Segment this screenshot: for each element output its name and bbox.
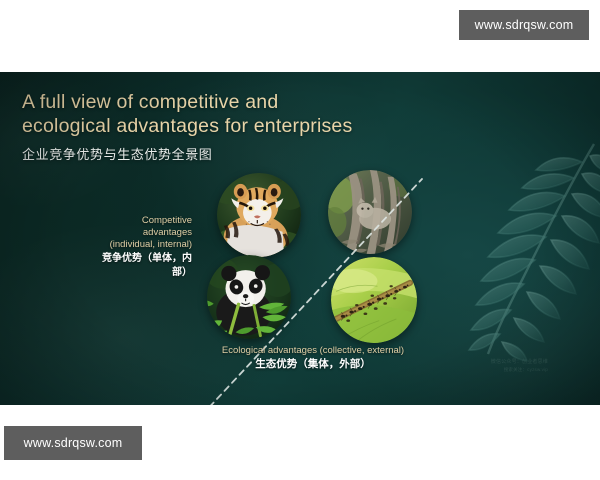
attribution-line-1: 微信公众号：创业者思维 xyxy=(491,359,548,366)
screenshot-canvas: www.sdrqsw.com xyxy=(0,0,600,480)
presentation-slide: A full view of competitive and ecologica… xyxy=(0,72,600,405)
fern-leaf-icon xyxy=(456,136,600,366)
bubble-panda[interactable] xyxy=(207,255,291,339)
slide-subtitle-chinese: 企业竞争优势与生态优势全景图 xyxy=(22,144,352,163)
attribution-line-2: 搜索关注：cyzsw.vip xyxy=(491,366,548,373)
title-line-2: ecological advantages for enterprises xyxy=(22,114,352,138)
y-axis-label-cn: 竞争优势（单体，内部） xyxy=(88,252,192,280)
watermark-top: www.sdrqsw.com xyxy=(459,10,589,40)
bubble-tiger[interactable] xyxy=(217,173,301,257)
slide-attribution: 微信公众号：创业者思维 搜索关注：cyzsw.vip xyxy=(491,359,548,373)
x-axis-label-cn: 生态优势（集体，外部） xyxy=(193,357,433,371)
y-axis-label-en-line3: (individual, internal) xyxy=(88,239,192,251)
bubble-camouflage[interactable] xyxy=(328,170,412,254)
title-line-1: A full view of competitive and xyxy=(22,90,352,114)
y-axis-label-en-line2: advantages xyxy=(88,227,192,239)
watermark-bottom: www.sdrqsw.com xyxy=(4,426,142,460)
y-axis-label-en-line1: Competitive xyxy=(88,215,192,227)
x-axis-label: Ecological advantages (collective, exter… xyxy=(193,344,433,371)
x-axis-label-en: Ecological advantages (collective, exter… xyxy=(193,344,433,357)
slide-title-block: A full view of competitive and ecologica… xyxy=(22,90,352,163)
y-axis-label: Competitive advantages (individual, inte… xyxy=(88,215,192,280)
bubble-leaf-ants[interactable] xyxy=(331,257,417,343)
